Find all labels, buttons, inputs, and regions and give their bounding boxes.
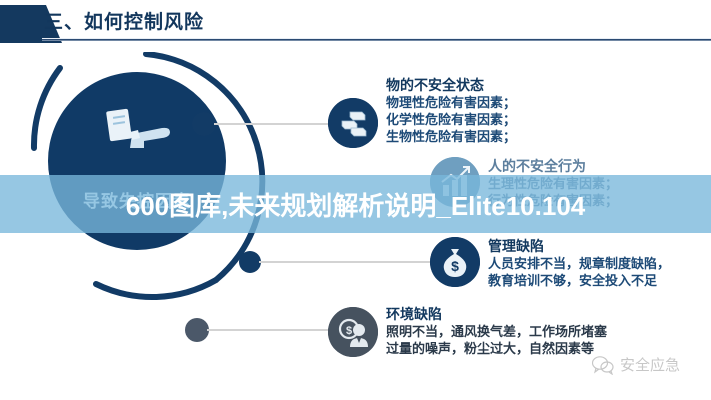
connector-unsafe-object-state bbox=[214, 123, 332, 125]
slide-header: 三、如何控制风险 bbox=[0, 0, 711, 52]
connector-environment-defect bbox=[207, 329, 331, 331]
block-title: 物的不安全状态 bbox=[386, 77, 516, 94]
block-line: 照明不当，通风换气差，工作场所堵塞 bbox=[386, 323, 607, 340]
block-line: 过量的噪声，粉尘过大，自然因素等 bbox=[386, 340, 607, 357]
stacked-blocks-icon bbox=[328, 98, 378, 148]
node-dot-management-defect bbox=[239, 251, 261, 273]
block-line: 教育培训不够，安全投入不足 bbox=[488, 272, 670, 289]
block-environment-defect: 环境缺陷 照明不当，通风换气差，工作场所堵塞 过量的噪声，粉尘过大，自然因素等 bbox=[386, 306, 607, 357]
page-title: 三、如何控制风险 bbox=[44, 7, 204, 34]
node-dot-unsafe-object-state bbox=[192, 112, 216, 136]
block-line: 物理性危险有害因素； bbox=[386, 94, 516, 111]
block-title: 人的不安全行为 bbox=[488, 158, 618, 175]
corner-watermark: 安全应急 bbox=[592, 354, 680, 375]
block-title: 环境缺陷 bbox=[386, 306, 607, 323]
connector-management-defect bbox=[259, 261, 431, 263]
block-line: 生物性危险有害因素； bbox=[386, 128, 516, 145]
money-bag-icon: $ bbox=[430, 237, 480, 287]
block-line: 人员安排不当，规章制度缺陷， bbox=[488, 255, 670, 272]
svg-text:$: $ bbox=[451, 258, 459, 274]
hand-document-icon bbox=[104, 104, 174, 162]
watermark-text: 600图库,未来规划解析说明_Elite10.104 bbox=[0, 186, 711, 223]
block-management-defect: 管理缺陷 人员安排不当，规章制度缺陷， 教育培训不够，安全投入不足 bbox=[488, 238, 670, 289]
block-line: 化学性危险有害因素； bbox=[386, 111, 516, 128]
corner-watermark-text: 安全应急 bbox=[620, 354, 680, 375]
block-title: 管理缺陷 bbox=[488, 238, 670, 255]
node-dot-environment-defect bbox=[185, 318, 209, 342]
person-cost-icon: $ bbox=[328, 307, 378, 357]
svg-text:$: $ bbox=[346, 325, 352, 337]
block-unsafe-object-state: 物的不安全状态 物理性危险有害因素； 化学性危险有害因素； 生物性危险有害因素； bbox=[386, 77, 516, 145]
slide-canvas: 三、如何控制风险 导致失控因素 bbox=[0, 0, 711, 400]
header-divider bbox=[42, 38, 711, 41]
wechat-logo-icon bbox=[592, 355, 614, 375]
